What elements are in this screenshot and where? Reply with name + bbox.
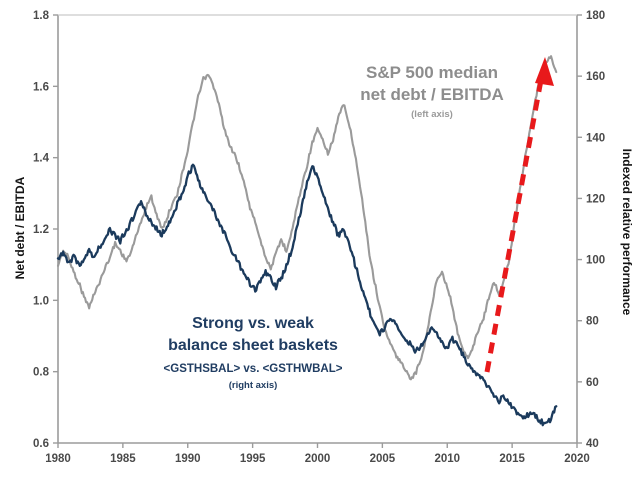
x-tick-label: 2010 bbox=[434, 453, 460, 465]
gray-annotation-subtitle: (left axis) bbox=[411, 109, 453, 120]
series-line-balance-sheet-baskets bbox=[58, 165, 556, 425]
left-tick-label: 1.2 bbox=[33, 224, 49, 236]
chart-canvas: 0.60.81.01.21.41.61.8 406080100120140160… bbox=[0, 0, 640, 480]
x-axis-tick-labels: 198019851990199520002005201020152020 bbox=[45, 453, 590, 465]
x-tick-label: 2015 bbox=[499, 453, 525, 465]
left-tick-label: 1.6 bbox=[33, 81, 49, 93]
x-tick-label: 1995 bbox=[240, 453, 266, 465]
x-tick-label: 1980 bbox=[45, 453, 71, 465]
navy-annotation-subtitle: (right axis) bbox=[229, 380, 278, 391]
left-tick-label: 1.8 bbox=[33, 10, 50, 22]
x-tick-label: 1985 bbox=[110, 453, 136, 465]
right-tick-label: 60 bbox=[586, 377, 599, 389]
right-tick-label: 160 bbox=[586, 71, 605, 83]
red-trend-arrow bbox=[487, 57, 554, 372]
chart-container: 0.60.81.01.21.41.61.8 406080100120140160… bbox=[0, 0, 640, 480]
right-tick-label: 140 bbox=[586, 132, 605, 144]
right-axis-title: Indexed relative performance bbox=[620, 149, 634, 316]
right-tick-label: 180 bbox=[586, 10, 605, 22]
right-tick-label: 100 bbox=[586, 255, 605, 267]
navy-annotation-line-2: balance sheet baskets bbox=[168, 337, 338, 354]
left-tick-label: 1.4 bbox=[33, 153, 50, 165]
left-tick-label: 0.6 bbox=[33, 438, 49, 450]
x-tick-label: 1990 bbox=[175, 453, 201, 465]
left-tick-label: 1.0 bbox=[33, 295, 49, 307]
x-tick-label: 2020 bbox=[564, 453, 590, 465]
plot-frame bbox=[58, 15, 577, 443]
navy-annotation-line-1: Strong vs. weak bbox=[192, 315, 314, 332]
gray-annotation-line-1: S&P 500 median bbox=[366, 63, 498, 82]
gray-annotation: S&P 500 median net debt / EBITDA (left a… bbox=[360, 63, 504, 120]
right-tick-label: 80 bbox=[586, 316, 599, 328]
right-axis-tick-labels: 406080100120140160180 bbox=[586, 10, 605, 450]
x-tick-label: 2005 bbox=[370, 453, 396, 465]
navy-annotation: Strong vs. weak balance sheet baskets <G… bbox=[164, 315, 343, 391]
left-axis-title: Net debt / EBITDA bbox=[13, 176, 27, 279]
gray-annotation-line-2: net debt / EBITDA bbox=[360, 85, 504, 104]
right-tick-label: 40 bbox=[586, 438, 599, 450]
left-tick-label: 0.8 bbox=[33, 367, 50, 379]
navy-annotation-tickers: <GSTHSBAL> vs. <GSTHWBAL> bbox=[164, 363, 343, 375]
left-axis-tick-labels: 0.60.81.01.21.41.61.8 bbox=[33, 10, 50, 450]
right-tick-label: 120 bbox=[586, 193, 605, 205]
x-tick-label: 2000 bbox=[305, 453, 331, 465]
